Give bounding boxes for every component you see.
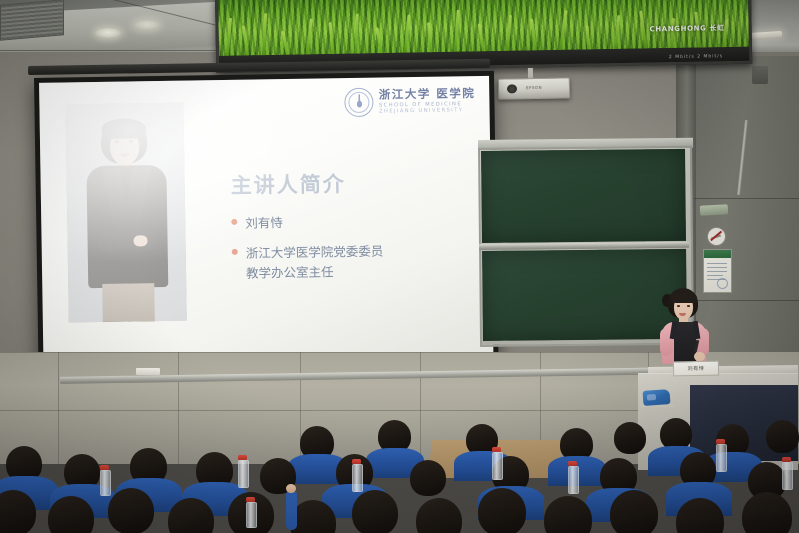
seal-emblem-icon [352,95,367,108]
bottle-cap-icon [352,459,361,464]
audience-hand [286,484,296,493]
speaker-eye [687,305,690,307]
audience-head [352,490,398,533]
bottle-cap-icon [782,457,791,462]
bullet-dot-icon [231,219,237,225]
wall-seam [694,198,799,199]
bullet-continuation-text: 教学办公室主任 [246,261,384,283]
wall-bracket [700,204,728,215]
display-brand-watermark: CHANGHONG 长虹 [649,23,724,34]
ceiling-vent [0,0,64,41]
water-bottle [352,464,363,492]
logo-english-line2: ZHEJIANG UNIVERSITY [379,108,476,115]
bottle-cap-icon [238,455,247,460]
water-bottle [782,462,793,490]
slide-title: 主讲人简介 [230,168,345,200]
ceiling-projector: EPSON [498,77,570,99]
list-item: 刘有恃 [231,210,481,233]
projector-lens-icon [507,84,517,93]
audience-head [742,492,792,533]
blackboard-upper-panel [481,149,686,243]
water-bottle [238,460,249,488]
audience-head [614,422,646,454]
projection-screen: 浙江大学 医学院 SCHOOL OF MEDICINE ZHEJIANG UNI… [39,76,493,365]
bottle-cap-icon [100,465,109,470]
no-smoking-icon [707,227,726,246]
lecture-hall-scene: CHANGHONG 长虹 2 Mbit/s 2 Mbit/s EPSON 浙江大… [0,0,799,533]
audience-head [766,420,799,453]
bullet-text: 刘有恃 [245,213,283,233]
tile-seam [0,410,700,411]
tile-seam [0,352,700,353]
notice-line [707,271,727,272]
audience-head [478,488,526,533]
notice-board [703,249,732,293]
audience-head [410,460,446,496]
speaker-smile [679,313,686,316]
bullet-primary-text: 刘有恃 [245,215,283,231]
slide-university-logo: 浙江大学 医学院 SCHOOL OF MEDICINE ZHEJIANG UNI… [345,86,476,117]
slide-bullet-list: 刘有恃 浙江大学医学院党委委员 教学办公室主任 [231,210,482,294]
audience-area [0,418,799,533]
bottle-cap-icon [246,497,255,502]
bullet-dot-icon [232,249,238,255]
display-footer-text: 2 Mbit/s 2 Mbit/s [669,54,723,60]
speaker-eye [677,305,680,307]
water-bottle [716,444,727,472]
speaker-hand [694,352,705,361]
water-bottle [568,466,579,494]
notice-board-header [704,250,731,258]
notice-line [707,275,723,276]
audience-head [416,498,462,533]
water-bottle [100,470,111,496]
notice-line [707,263,727,264]
list-item: 浙江大学医学院党委委员 教学办公室主任 [232,240,483,283]
audience-head [108,488,154,533]
ceiling-seam [0,50,230,51]
projection-washout-overlay [65,103,186,323]
speaker-name-card: 刘有恃 [673,361,719,377]
bottle-cap-icon [492,447,501,452]
bullet-primary-text: 浙江大学医学院党委委员 [246,244,384,261]
bullet-text: 浙江大学医学院党委委员 教学办公室主任 [246,242,384,283]
bottle-cap-icon [716,439,725,444]
cigarette-glyph [711,235,721,240]
recessed-light [95,28,121,38]
water-bottle [246,502,257,528]
audience-head [610,490,658,533]
audience-head [544,496,592,533]
tray-block [136,368,160,375]
projection-screen-frame: 浙江大学 医学院 SCHOOL OF MEDICINE ZHEJIANG UNI… [34,71,499,370]
speaker-portrait-photo [65,103,186,323]
recessed-light [134,20,160,30]
podium-blue-pouch [643,389,671,406]
notice-line [707,267,727,268]
audience-raised-arm [286,490,297,530]
bottle-cap-icon [568,461,577,466]
wall-speaker-icon [752,66,768,84]
logo-wordmark: 浙江大学 医学院 SCHOOL OF MEDICINE ZHEJIANG UNI… [379,88,476,114]
name-card-text: 刘有恃 [688,365,705,372]
logo-chinese-name: 浙江大学 医学院 [379,88,476,101]
speaker-fringe [671,292,697,303]
university-seal-icon [345,88,374,117]
water-bottle [492,452,503,480]
projector-brand-label: EPSON [526,85,542,90]
